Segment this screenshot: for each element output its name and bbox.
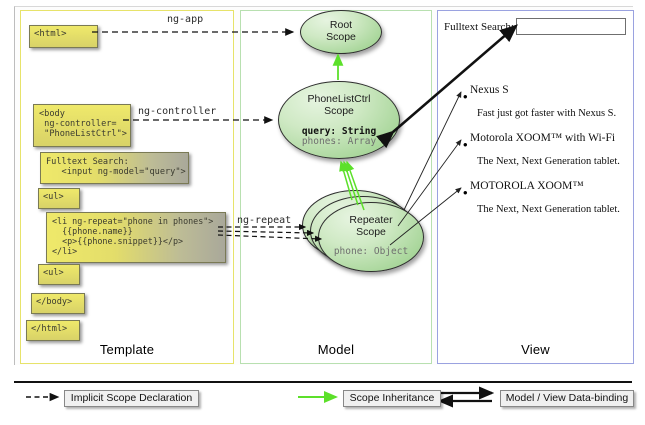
scope-root-title-2: Scope	[301, 32, 381, 44]
view-search-label: Fulltext Search:	[444, 21, 514, 33]
legend-item-model-view-data-binding: Model / View Data-binding	[500, 390, 634, 407]
scope-root-title-1: Root	[301, 20, 381, 32]
scope-ctrl-prop-phones: phones: Array	[279, 137, 399, 148]
search-input[interactable]	[516, 18, 626, 35]
code-box-body-open: <body ng-controller= "PhoneListCtrl">	[33, 104, 131, 147]
code-box-html-open: <html>	[29, 25, 98, 48]
phone-name: Nexus S	[470, 84, 509, 96]
code-box-html-close: </html>	[26, 320, 80, 341]
edge-label-ng-repeat: ng-repeat	[237, 215, 291, 226]
panel-template-label: Template	[21, 342, 233, 357]
scope-ctrl-title-1: PhoneListCtrl	[279, 94, 399, 106]
panel-model-label: Model	[241, 342, 431, 357]
phone-name: Motorola XOOM™ with Wi-Fi	[470, 132, 615, 144]
phone-snippet: The Next, Next Generation tablet.	[477, 156, 620, 167]
code-box-search-markup: Fulltext Search: <input ng-model="query"…	[40, 152, 189, 184]
code-box-ul-close: <ul>	[38, 264, 80, 285]
legend-divider	[14, 381, 632, 383]
scope-root: Root Scope	[300, 10, 382, 54]
code-box-li-repeat: <li ng-repeat="phone in phones"> {{phone…	[46, 212, 226, 263]
scope-ctrl-title-2: Scope	[279, 106, 399, 118]
scope-repeater-title-2: Scope	[319, 227, 423, 239]
list-bullet: •	[463, 90, 468, 103]
edge-label-ng-app: ng-app	[167, 14, 203, 25]
panel-model: Model	[240, 10, 432, 364]
scope-phonelistctrl: PhoneListCtrl Scope query: String phones…	[278, 81, 400, 159]
code-box-ul-open: <ul>	[38, 188, 80, 209]
legend-item-implicit-scope-declaration: Implicit Scope Declaration	[64, 390, 199, 407]
diagram-canvas: Template Model View <html> <body ng-cont…	[0, 0, 645, 425]
scope-repeater-prop-phone: phone: Object	[319, 247, 423, 258]
panel-view-label: View	[438, 342, 633, 357]
list-bullet: •	[463, 186, 468, 199]
legend-item-scope-inheritance: Scope Inheritance	[343, 390, 441, 407]
phone-snippet: The Next, Next Generation tablet.	[477, 204, 620, 215]
phone-snippet: Fast just got faster with Nexus S.	[477, 108, 616, 119]
edge-label-ng-controller: ng-controller	[138, 106, 216, 117]
list-bullet: •	[463, 138, 468, 151]
scope-repeater: Repeater Scope phone: Object	[318, 202, 424, 272]
code-box-body-close: </body>	[31, 293, 85, 314]
scope-repeater-title-1: Repeater	[319, 215, 423, 227]
phone-name: MOTOROLA XOOM™	[470, 180, 584, 192]
